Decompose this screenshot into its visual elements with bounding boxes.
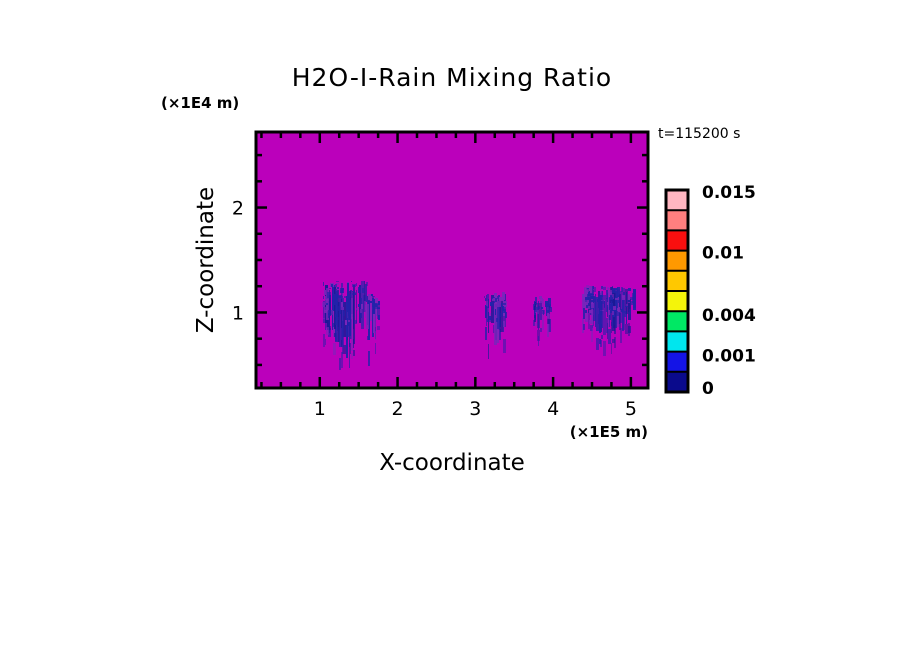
rain-streak: [600, 340, 602, 347]
x-tick-label: 1: [314, 398, 326, 420]
rain-core-pixel: [591, 294, 594, 295]
rain-core-pixel: [547, 314, 550, 319]
rain-core-pixel: [607, 302, 609, 305]
rain-core-pixel: [378, 308, 380, 309]
timestamp-label: t=115200 s: [658, 126, 740, 142]
rain-core-pixel: [611, 301, 612, 306]
rain-core-pixel: [495, 309, 496, 315]
rain-core-pixel: [337, 306, 339, 311]
rain-core-pixel: [372, 303, 374, 307]
rain-core-pixel: [356, 308, 357, 310]
rain-streak: [596, 338, 599, 350]
rain-core-pixel: [490, 302, 493, 306]
rain-streak: [366, 304, 369, 329]
rain-core-pixel: [630, 297, 634, 300]
rain-core-pixel: [323, 296, 324, 299]
rain-core-pixel: [344, 296, 347, 298]
rain-streak: [349, 343, 351, 354]
y-tick-label: 2: [232, 198, 244, 220]
rain-streak: [591, 331, 593, 342]
rain-core-pixel: [358, 304, 360, 307]
rain-core-pixel: [601, 286, 603, 289]
x-tick-label: 2: [392, 398, 404, 420]
rain-core-pixel: [537, 310, 539, 314]
plot-area: [256, 132, 648, 388]
rain-core-pixel: [354, 292, 356, 295]
rain-streak: [538, 336, 539, 346]
rain-core-pixel: [328, 313, 329, 318]
rain-streak: [341, 352, 343, 368]
rain-streak: [351, 353, 353, 359]
rain-streak: [356, 290, 357, 323]
rain-core-pixel: [335, 314, 338, 317]
rain-core-pixel: [610, 292, 612, 294]
rain-core-pixel: [372, 296, 374, 301]
colorbar-band: [666, 331, 688, 352]
rain-core-pixel: [628, 288, 631, 291]
rain-core-pixel: [362, 288, 365, 293]
rain-core-pixel: [615, 298, 619, 300]
rain-core-pixel: [340, 288, 344, 290]
rain-streak: [323, 334, 325, 347]
rain-streak: [339, 296, 341, 347]
rain-streak: [603, 341, 606, 356]
rain-core-pixel: [337, 287, 339, 289]
x-axis-unit-label: (×1E5 m): [570, 423, 648, 441]
rain-core-pixel: [331, 310, 333, 315]
rain-core-pixel: [587, 294, 591, 297]
rain-core-pixel: [541, 307, 543, 309]
rain-core-pixel: [323, 282, 324, 286]
rain-streak: [540, 301, 542, 320]
rain-streak: [485, 327, 487, 340]
rain-core-pixel: [633, 290, 636, 292]
rain-streak: [375, 343, 376, 354]
rain-core-pixel: [357, 308, 359, 309]
x-tick-label: 4: [547, 398, 559, 420]
rain-core-pixel: [497, 301, 501, 307]
rain-core-pixel: [633, 294, 636, 297]
rain-core-pixel: [497, 296, 498, 299]
rain-core-pixel: [503, 303, 506, 305]
rain-core-pixel: [593, 287, 596, 292]
rain-core-pixel: [543, 311, 544, 315]
rain-core-pixel: [484, 296, 485, 298]
rain-core-pixel: [618, 307, 620, 312]
rain-core-pixel: [486, 301, 488, 306]
rain-core-pixel: [622, 295, 625, 300]
rain-streak: [534, 315, 536, 322]
rain-core-pixel: [612, 311, 614, 315]
rain-streak: [486, 318, 487, 326]
rain-core-pixel: [609, 304, 611, 309]
rain-core-pixel: [354, 320, 357, 324]
rain-core-pixel: [329, 288, 331, 289]
rain-core-pixel: [628, 294, 630, 300]
rain-core-pixel: [374, 316, 375, 322]
rain-core-pixel: [615, 288, 618, 290]
rain-core-pixel: [610, 295, 612, 300]
rain-core-pixel: [487, 316, 491, 322]
rain-streak: [540, 328, 542, 332]
y-tick-label: 1: [232, 302, 244, 324]
rain-core-pixel: [352, 284, 356, 287]
rain-core-pixel: [345, 320, 347, 325]
rain-core-pixel: [488, 308, 489, 312]
rain-core-pixel: [323, 318, 325, 319]
rain-core-pixel: [627, 300, 630, 302]
rain-core-pixel: [624, 311, 626, 317]
rain-core-pixel: [600, 307, 602, 311]
rain-core-pixel: [327, 292, 331, 298]
rain-core-pixel: [587, 300, 589, 303]
rain-core-pixel: [621, 287, 623, 292]
rain-core-pixel: [341, 307, 344, 310]
rain-streak: [613, 317, 615, 328]
rain-core-pixel: [348, 320, 350, 322]
rain-core-pixel: [339, 310, 341, 314]
rain-streak: [488, 344, 489, 359]
rain-streak: [349, 354, 350, 368]
rain-core-pixel: [597, 299, 599, 302]
rain-streak: [625, 324, 628, 334]
rain-streak: [593, 315, 594, 326]
rain-core-pixel: [502, 306, 504, 311]
rain-core-pixel: [628, 302, 630, 303]
rain-core-pixel: [613, 306, 616, 310]
colorbar-band: [666, 372, 688, 393]
rain-core-pixel: [366, 282, 368, 286]
rain-streak: [325, 339, 326, 345]
rain-streak: [606, 290, 608, 312]
rain-core-pixel: [343, 311, 345, 316]
rain-streak: [547, 324, 549, 337]
rain-streak: [333, 343, 336, 355]
x-tick-label: 5: [625, 398, 637, 420]
rain-streak: [600, 293, 602, 332]
y-axis-label: Z-coordinate: [193, 187, 219, 333]
rain-core-pixel: [348, 294, 351, 297]
rain-streak: [538, 301, 539, 330]
rain-core-pixel: [585, 310, 587, 313]
colorbar-band: [666, 291, 688, 312]
rain-core-pixel: [371, 294, 373, 296]
rain-core-pixel: [341, 302, 343, 307]
rain-streak: [365, 301, 366, 318]
rain-core-pixel: [629, 309, 631, 314]
rain-core-pixel: [485, 298, 486, 301]
rain-streak: [503, 339, 506, 353]
rain-core-pixel: [360, 309, 362, 313]
colorbar-tick-label: 0.001: [702, 347, 756, 367]
rain-core-pixel: [604, 301, 605, 307]
rain-streak: [375, 297, 376, 327]
rain-core-pixel: [505, 312, 507, 318]
rain-core-pixel: [548, 307, 552, 312]
rain-core-pixel: [322, 302, 325, 307]
rain-core-pixel: [499, 297, 502, 301]
rain-streak: [485, 305, 487, 318]
rain-streak: [368, 351, 370, 366]
colorbar-tick-label: 0.004: [702, 306, 756, 326]
colorbar-band: [666, 311, 688, 332]
rain-core-pixel: [492, 297, 493, 299]
rain-core-pixel: [358, 287, 361, 293]
rain-streak: [608, 329, 611, 344]
rain-core-pixel: [599, 295, 603, 297]
rain-streak: [585, 312, 588, 322]
rain-core-pixel: [335, 284, 337, 287]
rain-core-pixel: [618, 289, 620, 295]
rain-streak: [611, 343, 612, 354]
rain-core-pixel: [607, 288, 610, 289]
colorbar-band: [666, 230, 688, 251]
rain-core-pixel: [591, 300, 594, 302]
colorbar-bands: [666, 190, 688, 393]
y-axis-unit-label: (×1E4 m): [161, 94, 239, 112]
rain-streak: [628, 326, 631, 333]
rain-core-pixel: [621, 309, 623, 312]
rain-core-pixel: [485, 307, 488, 308]
rain-streak: [375, 331, 376, 340]
rain-core-pixel: [374, 304, 378, 305]
rain-core-pixel: [351, 281, 352, 282]
rain-streak: [353, 350, 355, 356]
rain-core-pixel: [625, 306, 628, 307]
rain-streak: [377, 326, 380, 330]
rain-streak: [535, 323, 537, 326]
rain-streak: [583, 324, 585, 330]
rain-core-pixel: [603, 287, 606, 290]
rain-core-pixel: [340, 290, 343, 293]
rain-streak: [620, 328, 622, 343]
rain-core-pixel: [368, 294, 371, 300]
rain-core-pixel: [534, 303, 537, 304]
rain-streak: [601, 335, 603, 339]
rain-core-pixel: [331, 284, 333, 287]
rain-core-pixel: [357, 309, 358, 311]
colorbar-band: [666, 210, 688, 231]
rain-streak: [619, 313, 621, 330]
figure-canvas: H2O-I-Rain Mixing Ratio (×1E4 m) t=11520…: [0, 0, 904, 654]
rain-streak: [341, 340, 342, 347]
rain-core-pixel: [606, 298, 608, 299]
x-axis-label: X-coordinate: [379, 450, 525, 476]
rain-streak: [596, 297, 599, 331]
rain-core-pixel: [372, 310, 374, 314]
rain-core-pixel: [540, 298, 543, 303]
rain-core-pixel: [338, 295, 342, 298]
rain-streak: [339, 358, 341, 370]
rain-core-pixel: [600, 291, 602, 295]
rain-core-pixel: [378, 315, 380, 320]
rain-core-pixel: [324, 310, 327, 313]
colorbar-tick-label: 0: [702, 379, 714, 399]
colorbar-band: [666, 190, 688, 211]
rain-core-pixel: [375, 305, 378, 309]
rain-core-pixel: [591, 303, 594, 308]
rain-core-pixel: [501, 303, 502, 307]
rain-core-pixel: [542, 310, 544, 311]
rain-core-pixel: [378, 301, 380, 305]
rain-core-pixel: [538, 306, 540, 309]
rain-streak: [335, 333, 337, 341]
rain-streak: [614, 337, 616, 348]
colorbar-band: [666, 251, 688, 272]
colorbar-tick-label: 0.015: [702, 183, 756, 203]
rain-streak: [351, 298, 353, 351]
rain-core-pixel: [495, 298, 497, 302]
colorbar-band: [666, 352, 688, 373]
rain-core-pixel: [631, 301, 634, 305]
rain-streak: [592, 328, 593, 331]
rain-core-pixel: [351, 314, 353, 319]
rain-core-pixel: [361, 304, 363, 309]
colorbar-band: [666, 271, 688, 292]
rain-core-pixel: [586, 289, 589, 292]
rain-core-pixel: [368, 301, 372, 303]
rain-streak: [326, 327, 329, 335]
rain-core-pixel: [496, 318, 498, 322]
x-tick-label: 3: [469, 398, 481, 420]
page-title: H2O-I-Rain Mixing Ratio: [292, 63, 612, 92]
rain-core-pixel: [612, 297, 613, 300]
rain-core-pixel: [600, 289, 603, 290]
rain-core-pixel: [356, 283, 357, 286]
rain-core-pixel: [333, 297, 337, 302]
rain-core-pixel: [326, 303, 328, 305]
plot-background: [256, 132, 648, 388]
rain-core-pixel: [601, 300, 604, 304]
rain-core-pixel: [348, 311, 351, 316]
rain-streak: [606, 318, 608, 333]
rain-core-pixel: [594, 296, 595, 302]
rain-core-pixel: [336, 281, 339, 282]
rain-core-pixel: [548, 304, 551, 306]
rain-core-pixel: [324, 290, 326, 295]
rain-core-pixel: [500, 313, 503, 317]
rain-core-pixel: [504, 294, 505, 300]
rain-core-pixel: [588, 306, 590, 309]
rain-streak: [367, 336, 370, 340]
colorbar-tick-label: 0.01: [702, 244, 744, 264]
rain-core-pixel: [608, 310, 610, 315]
rain-core-pixel: [335, 290, 336, 292]
